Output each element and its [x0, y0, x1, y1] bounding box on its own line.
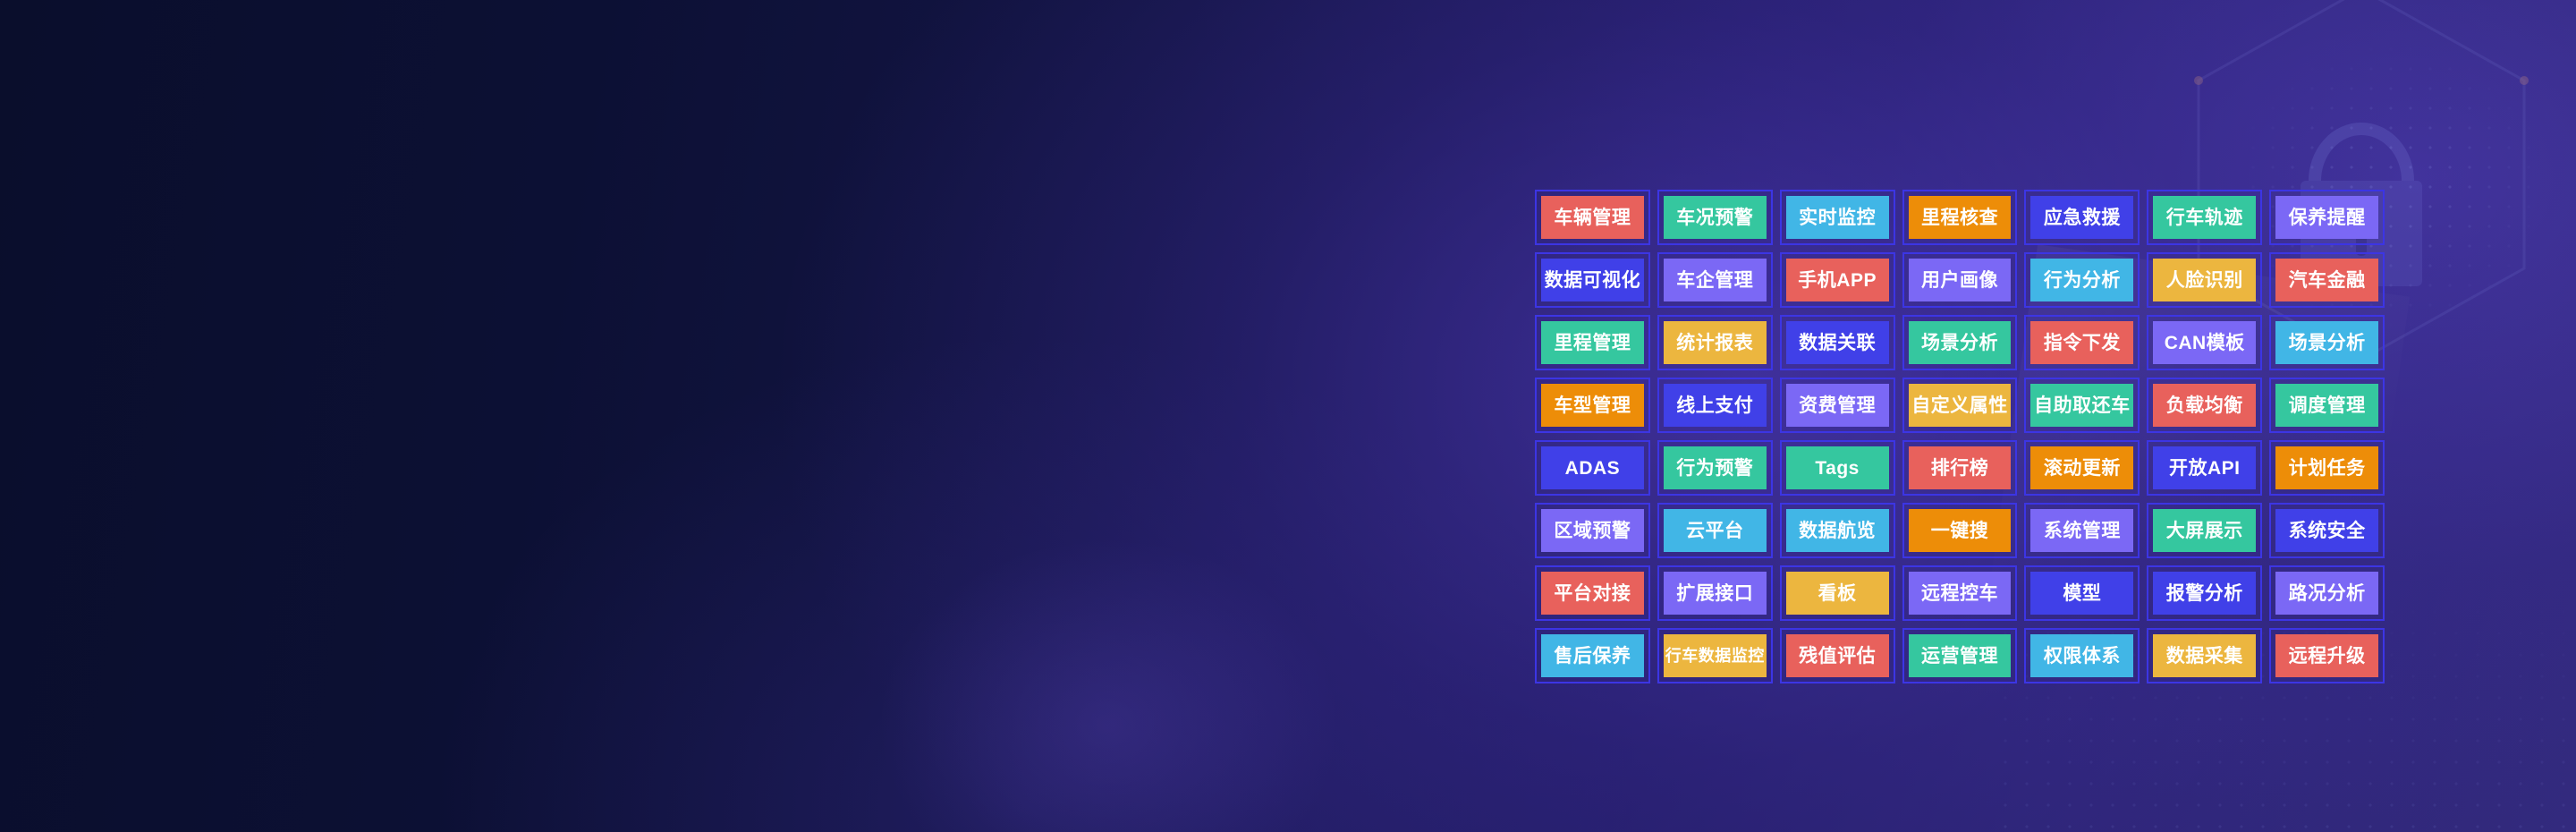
feature-tag-label: 系统安全: [2275, 509, 2378, 552]
feature-tag[interactable]: 开放API: [2147, 440, 2262, 496]
feature-tag-label: 数据采集: [2153, 634, 2256, 677]
feature-tag[interactable]: 调度管理: [2269, 378, 2385, 433]
feature-tag-label: 系统管理: [2030, 509, 2133, 552]
feature-tag[interactable]: 用户画像: [1902, 252, 2018, 308]
tag-row: 区域预警云平台数据航览一键搜系统管理大屏展示系统安全: [1535, 503, 2385, 558]
feature-tag[interactable]: 数据航览: [1780, 503, 1895, 558]
feature-tag[interactable]: 平台对接: [1535, 565, 1650, 621]
feature-tag[interactable]: 保养提醒: [2269, 190, 2385, 245]
feature-tag-label: ADAS: [1541, 446, 1644, 489]
feature-tag[interactable]: 应急救援: [2024, 190, 2140, 245]
feature-tag[interactable]: 大屏展示: [2147, 503, 2262, 558]
feature-tag-label: 统计报表: [1664, 321, 1767, 364]
feature-tag-label: 远程升级: [2275, 634, 2378, 677]
feature-tag[interactable]: 运营管理: [1902, 628, 2018, 683]
feature-tag[interactable]: 售后保养: [1535, 628, 1650, 683]
feature-tag[interactable]: 场景分析: [1902, 315, 2018, 370]
feature-tag-label: 负载均衡: [2153, 384, 2256, 427]
feature-tag[interactable]: 车企管理: [1657, 252, 1773, 308]
feature-tag[interactable]: 自定义属性: [1902, 378, 2018, 433]
feature-tag[interactable]: 汽车金融: [2269, 252, 2385, 308]
feature-tag-label: 指令下发: [2030, 321, 2133, 364]
feature-tag-label: 残值评估: [1786, 634, 1889, 677]
feature-tag-label: 区域预警: [1541, 509, 1644, 552]
feature-tag-label: 云平台: [1664, 509, 1767, 552]
feature-tag[interactable]: 自助取还车: [2024, 378, 2140, 433]
feature-tag[interactable]: 负载均衡: [2147, 378, 2262, 433]
feature-tag-label: 自定义属性: [1909, 384, 2012, 427]
feature-tag-label: 资费管理: [1786, 384, 1889, 427]
feature-tag[interactable]: 系统安全: [2269, 503, 2385, 558]
feature-tag[interactable]: 数据关联: [1780, 315, 1895, 370]
feature-tag-label: CAN模板: [2153, 321, 2256, 364]
feature-tag[interactable]: 手机APP: [1780, 252, 1895, 308]
tag-row: 里程管理统计报表数据关联场景分析指令下发CAN模板场景分析: [1535, 315, 2385, 370]
feature-tag[interactable]: 权限体系: [2024, 628, 2140, 683]
feature-tag-label: 行为分析: [2030, 259, 2133, 301]
feature-tag[interactable]: 实时监控: [1780, 190, 1895, 245]
feature-tag-label: 行为预警: [1664, 446, 1767, 489]
feature-tag-label: 场景分析: [2275, 321, 2378, 364]
feature-tag-label: 数据可视化: [1541, 259, 1644, 301]
feature-tag-label: 运营管理: [1909, 634, 2012, 677]
tag-row: 车辆管理车况预警实时监控里程核查应急救援行车轨迹保养提醒: [1535, 190, 2385, 245]
feature-tag-label: 车况预警: [1664, 196, 1767, 239]
feature-tag-label: 滚动更新: [2030, 446, 2133, 489]
tag-row: 平台对接扩展接口看板远程控车模型报警分析路况分析: [1535, 565, 2385, 621]
feature-tag[interactable]: ADAS: [1535, 440, 1650, 496]
feature-tag[interactable]: 场景分析: [2269, 315, 2385, 370]
feature-tag[interactable]: 行为分析: [2024, 252, 2140, 308]
feature-tag-label: 排行榜: [1909, 446, 2012, 489]
feature-tag[interactable]: 滚动更新: [2024, 440, 2140, 496]
feature-tag-label: 权限体系: [2030, 634, 2133, 677]
feature-tag-label: 数据关联: [1786, 321, 1889, 364]
feature-tag-label: 汽车金融: [2275, 259, 2378, 301]
feature-tag[interactable]: 扩展接口: [1657, 565, 1773, 621]
feature-tag-label: 开放API: [2153, 446, 2256, 489]
feature-tag[interactable]: 行为预警: [1657, 440, 1773, 496]
feature-tag[interactable]: 看板: [1780, 565, 1895, 621]
feature-tag[interactable]: 车况预警: [1657, 190, 1773, 245]
feature-tag-label: 一键搜: [1909, 509, 2012, 552]
feature-tag-label: 行车数据监控: [1664, 634, 1767, 677]
feature-tag-label: Tags: [1786, 446, 1889, 489]
feature-tag[interactable]: 云平台: [1657, 503, 1773, 558]
feature-tag-label: 实时监控: [1786, 196, 1889, 239]
feature-tag-label: 用户画像: [1909, 259, 2012, 301]
feature-tag[interactable]: 车辆管理: [1535, 190, 1650, 245]
feature-tag-label: 远程控车: [1909, 572, 2012, 615]
feature-tag[interactable]: 远程控车: [1902, 565, 2018, 621]
feature-tag[interactable]: 里程核查: [1902, 190, 2018, 245]
feature-tag[interactable]: 计划任务: [2269, 440, 2385, 496]
feature-tag[interactable]: 排行榜: [1902, 440, 2018, 496]
feature-tag-label: 计划任务: [2275, 446, 2378, 489]
feature-tag-label: 车辆管理: [1541, 196, 1644, 239]
feature-tag[interactable]: 数据采集: [2147, 628, 2262, 683]
feature-tag[interactable]: 线上支付: [1657, 378, 1773, 433]
feature-tag-label: 报警分析: [2153, 572, 2256, 615]
feature-tag-label: 里程管理: [1541, 321, 1644, 364]
feature-tag[interactable]: Tags: [1780, 440, 1895, 496]
feature-tag[interactable]: 人脸识别: [2147, 252, 2262, 308]
feature-tag[interactable]: 行车轨迹: [2147, 190, 2262, 245]
feature-tag-label: 售后保养: [1541, 634, 1644, 677]
tag-row: 售后保养行车数据监控残值评估运营管理权限体系数据采集远程升级: [1535, 628, 2385, 683]
feature-tag-label: 扩展接口: [1664, 572, 1767, 615]
feature-tag[interactable]: 数据可视化: [1535, 252, 1650, 308]
feature-tag[interactable]: 一键搜: [1902, 503, 2018, 558]
tag-row: ADAS行为预警Tags排行榜滚动更新开放API计划任务: [1535, 440, 2385, 496]
feature-tag[interactable]: 统计报表: [1657, 315, 1773, 370]
feature-tag-label: 人脸识别: [2153, 259, 2256, 301]
feature-tag[interactable]: 模型: [2024, 565, 2140, 621]
feature-tag-label: 路况分析: [2275, 572, 2378, 615]
feature-tag-label: 保养提醒: [2275, 196, 2378, 239]
background-glow: [877, 537, 1342, 832]
feature-tag[interactable]: 里程管理: [1535, 315, 1650, 370]
feature-tag-label: 平台对接: [1541, 572, 1644, 615]
feature-tag-label: 车企管理: [1664, 259, 1767, 301]
feature-tag-label: 自助取还车: [2030, 384, 2133, 427]
feature-tag[interactable]: 路况分析: [2269, 565, 2385, 621]
feature-tag[interactable]: 资费管理: [1780, 378, 1895, 433]
feature-tag-label: 大屏展示: [2153, 509, 2256, 552]
feature-tag-label: 里程核查: [1909, 196, 2012, 239]
feature-tag-label: 手机APP: [1786, 259, 1889, 301]
page-background: 车辆管理车况预警实时监控里程核查应急救援行车轨迹保养提醒数据可视化车企管理手机A…: [0, 0, 2576, 832]
tag-row: 车型管理线上支付资费管理自定义属性自助取还车负载均衡调度管理: [1535, 378, 2385, 433]
feature-tag-grid: 车辆管理车况预警实时监控里程核查应急救援行车轨迹保养提醒数据可视化车企管理手机A…: [1535, 190, 2385, 683]
feature-tag[interactable]: 车型管理: [1535, 378, 1650, 433]
feature-tag[interactable]: 远程升级: [2269, 628, 2385, 683]
feature-tag[interactable]: 报警分析: [2147, 565, 2262, 621]
feature-tag-label: 调度管理: [2275, 384, 2378, 427]
feature-tag[interactable]: 系统管理: [2024, 503, 2140, 558]
feature-tag-label: 模型: [2030, 572, 2133, 615]
tag-row: 数据可视化车企管理手机APP用户画像行为分析人脸识别汽车金融: [1535, 252, 2385, 308]
feature-tag-label: 应急救援: [2030, 196, 2133, 239]
feature-tag[interactable]: 指令下发: [2024, 315, 2140, 370]
feature-tag-label: 场景分析: [1909, 321, 2012, 364]
feature-tag-label: 行车轨迹: [2153, 196, 2256, 239]
feature-tag-label: 线上支付: [1664, 384, 1767, 427]
feature-tag-label: 车型管理: [1541, 384, 1644, 427]
feature-tag-label: 看板: [1786, 572, 1889, 615]
feature-tag-label: 数据航览: [1786, 509, 1889, 552]
feature-tag[interactable]: 区域预警: [1535, 503, 1650, 558]
feature-tag[interactable]: 残值评估: [1780, 628, 1895, 683]
feature-tag[interactable]: CAN模板: [2147, 315, 2262, 370]
feature-tag[interactable]: 行车数据监控: [1657, 628, 1773, 683]
